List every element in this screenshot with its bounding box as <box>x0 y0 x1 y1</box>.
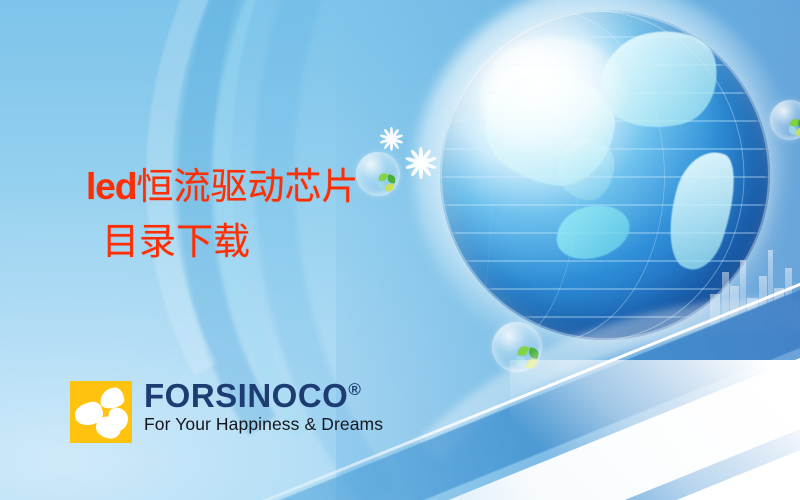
corner-white-fade <box>510 360 800 500</box>
pinwheel-blade <box>376 180 386 190</box>
headline-latin-word: led <box>86 166 136 207</box>
brand-tagline: For Your Happiness & Dreams <box>144 414 383 435</box>
bubble-pinwheel-icon <box>356 152 400 196</box>
headline-cjk-phrase: 恒流驱动芯片 <box>136 167 358 208</box>
starburst-icon <box>404 146 438 180</box>
four-petal-flower-icon <box>70 381 132 443</box>
logo-text-block: FORSINOCO ® For Your Happiness & Dreams <box>144 379 383 435</box>
starburst-icon <box>378 126 404 152</box>
pinwheel-blade <box>386 174 396 184</box>
pinwheel-icon <box>507 337 527 357</box>
pinwheel-icon <box>783 113 798 128</box>
pinwheel-icon <box>370 166 386 182</box>
brand-name: FORSINOCO <box>144 379 348 413</box>
headline-block: led恒流驱动芯片 目录下载 <box>86 166 358 264</box>
brand-name-row: FORSINOCO ® <box>144 379 383 413</box>
registered-trademark-icon: ® <box>348 381 361 398</box>
headline-line-2: 目录下载 <box>86 222 358 263</box>
headline-line-1: led恒流驱动芯片 <box>86 166 358 208</box>
logo-petal <box>99 386 126 409</box>
pinwheel-blade <box>384 182 394 192</box>
promo-banner: led恒流驱动芯片 目录下载 FORSINOCO ® For Your Happ… <box>0 0 800 500</box>
brand-logo[interactable]: FORSINOCO ® For Your Happiness & Dreams <box>70 381 383 443</box>
